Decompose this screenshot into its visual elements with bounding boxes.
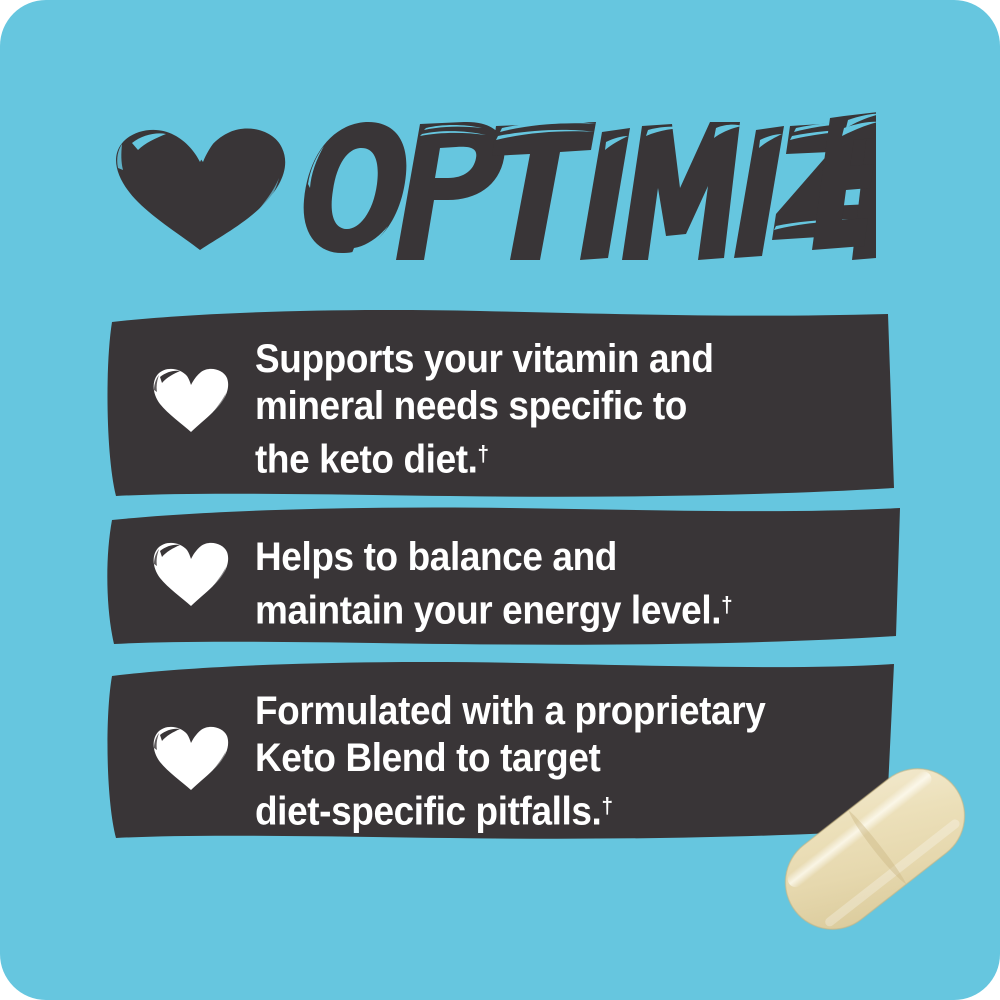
heart-icon <box>152 726 230 790</box>
wordmark-optimize <box>296 108 876 268</box>
heart-icon <box>152 368 230 432</box>
benefit-text-2: Helps to balance andmaintain your energy… <box>255 534 732 635</box>
benefit-text-3: Formulated with a proprietaryKeto Blend … <box>255 688 765 836</box>
benefit-panel-1: Supports your vitamin andmineral needs s… <box>0 306 1000 502</box>
card-header <box>0 108 1000 268</box>
capsule-image <box>770 742 980 957</box>
benefits-card: Supports your vitamin andmineral needs s… <box>0 0 1000 1000</box>
heart-icon <box>152 542 230 606</box>
benefit-text-1: Supports your vitamin andmineral needs s… <box>255 336 714 484</box>
heart-icon <box>112 128 288 250</box>
benefit-panel-2: Helps to balance andmaintain your energy… <box>0 502 1000 652</box>
